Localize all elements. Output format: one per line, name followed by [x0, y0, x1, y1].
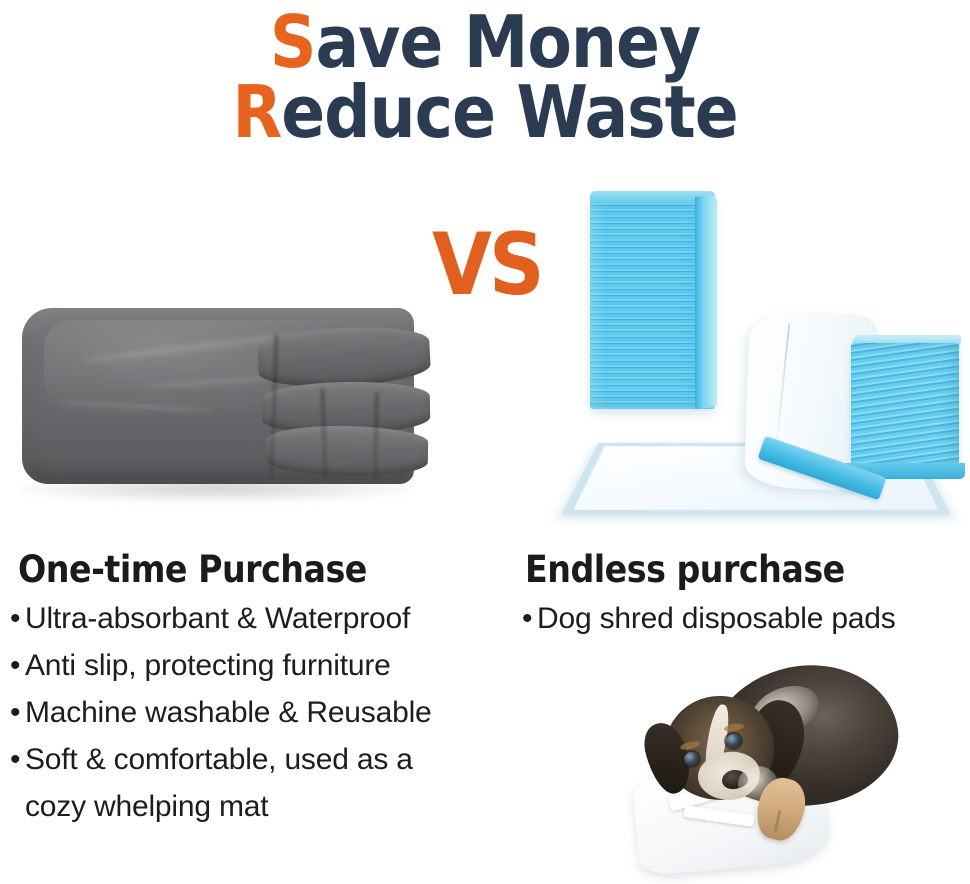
puppy-eye-right: [726, 734, 741, 748]
disposable-pads-image: [555, 185, 967, 525]
list-item-continuation-label: cozy whelping mat: [10, 790, 268, 824]
infographic-canvas: Save Money Reduce Waste VS: [0, 0, 970, 884]
list-item: • Anti slip, protecting furniture: [10, 649, 510, 696]
list-item-label: Anti slip, protecting furniture: [25, 649, 391, 683]
bullet-icon: •: [10, 649, 25, 683]
list-item: • Soft & comfortable, used as a: [10, 743, 510, 790]
blanket-rolled-fold: [266, 425, 429, 478]
vs-badge: VS: [432, 222, 542, 308]
list-item: • Machine washable & Reusable: [10, 696, 510, 743]
list-item-label: Dog shred disposable pads: [537, 602, 896, 636]
headline-line-2-rest: educe Waste: [281, 70, 737, 154]
bullet-icon: •: [10, 743, 25, 777]
blanket-body: [22, 308, 414, 484]
list-item-label: Machine washable & Reusable: [25, 696, 432, 730]
tall-pad-stack-edge: [695, 195, 717, 409]
puppy-eye-left: [684, 752, 699, 766]
list-item: • Ultra-absorbant & Waterproof: [10, 602, 510, 649]
right-drawback-list: • Dog shred disposable pads: [522, 602, 962, 649]
headline-line-2-accent: R: [232, 70, 281, 154]
headline-line-2: Reduce Waste: [0, 78, 970, 148]
bullet-icon: •: [522, 602, 537, 636]
list-item-label: Ultra-absorbant & Waterproof: [25, 602, 410, 636]
headline-line-1: Save Money: [0, 8, 970, 78]
bullet-icon: •: [10, 602, 25, 636]
left-column-heading: One-time Purchase: [18, 548, 367, 591]
list-item-continuation: cozy whelping mat: [10, 790, 510, 837]
bullet-icon: •: [10, 696, 25, 730]
puppy-photo: [630, 660, 920, 875]
page-title: Save Money Reduce Waste: [0, 8, 970, 148]
list-item: • Dog shred disposable pads: [522, 602, 962, 649]
folded-blanket-image: [8, 300, 428, 530]
right-column-heading: Endless purchase: [525, 548, 845, 591]
low-pad-stack: [851, 343, 959, 469]
left-benefit-list: • Ultra-absorbant & Waterproof • Anti sl…: [10, 602, 510, 837]
list-item-label: Soft & comfortable, used as a: [25, 743, 413, 777]
